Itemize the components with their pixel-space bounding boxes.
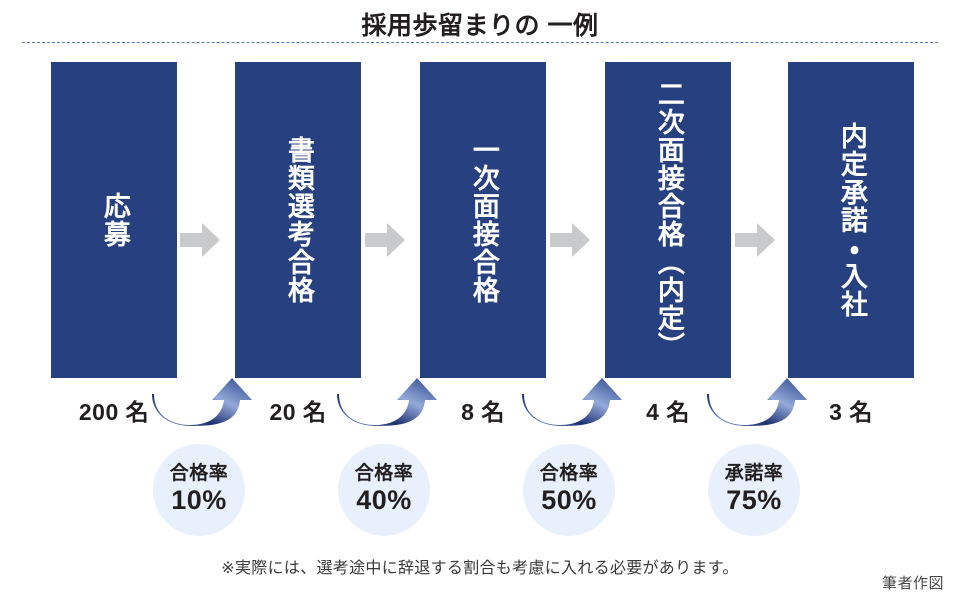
conversion-rate-badge-4: 承諾率 75% bbox=[708, 444, 800, 536]
conversion-rate-label-1: 合格率 bbox=[170, 464, 229, 485]
curved-conversion-arrow-icon-1 bbox=[152, 376, 256, 426]
conversion-rate-badge-1: 合格率 10% bbox=[153, 444, 245, 536]
right-arrow-icon-2 bbox=[365, 222, 405, 258]
funnel-stage-bar-2: 書類選考合格 bbox=[235, 62, 361, 378]
diagram-canvas: 採用歩留まりの 一例 応募 書類選考合格 一次面接合格 二次面接合格（内定） 内… bbox=[0, 0, 960, 600]
curved-conversion-arrow-icon-4 bbox=[707, 376, 811, 426]
right-arrow-icon-3 bbox=[550, 222, 590, 258]
conversion-rate-value-2: 40% bbox=[356, 485, 412, 516]
funnel-stage-bar-4: 二次面接合格（内定） bbox=[605, 62, 731, 378]
funnel-stage-label-3: 一次面接合格 bbox=[467, 136, 499, 304]
conversion-rate-badge-3: 合格率 50% bbox=[523, 444, 615, 536]
conversion-rate-value-1: 10% bbox=[171, 485, 227, 516]
funnel-stage-bar-3: 一次面接合格 bbox=[420, 62, 546, 378]
right-arrow-icon-1 bbox=[180, 222, 220, 258]
funnel-stage-label-1: 応募 bbox=[98, 192, 130, 248]
funnel-stage-bar-1: 応募 bbox=[51, 62, 177, 378]
funnel-stage-bar-5: 内定承諾・入社 bbox=[788, 62, 914, 378]
footnote: ※実際には、選考途中に辞退する割合も考慮に入れる必要があります。 bbox=[0, 554, 960, 578]
curved-conversion-arrow-icon-2 bbox=[337, 376, 441, 426]
conversion-rate-badge-2: 合格率 40% bbox=[338, 444, 430, 536]
conversion-rate-value-3: 50% bbox=[541, 485, 597, 516]
conversion-rate-label-2: 合格率 bbox=[355, 464, 414, 485]
funnel-stage-label-5: 内定承諾・入社 bbox=[835, 122, 867, 318]
conversion-rate-label-3: 合格率 bbox=[540, 464, 599, 485]
funnel-stage-label-2: 書類選考合格 bbox=[282, 136, 314, 304]
conversion-rate-value-4: 75% bbox=[726, 485, 782, 516]
page-title: 採用歩留まりの 一例 bbox=[0, 6, 960, 42]
curved-conversion-arrow-icon-3 bbox=[522, 376, 626, 426]
conversion-rate-label-4: 承諾率 bbox=[725, 464, 784, 485]
funnel-stage-label-4: 二次面接合格（内定） bbox=[652, 80, 684, 360]
right-arrow-icon-4 bbox=[735, 222, 775, 258]
title-divider bbox=[22, 42, 938, 43]
credit-label: 筆者作図 bbox=[882, 572, 944, 593]
